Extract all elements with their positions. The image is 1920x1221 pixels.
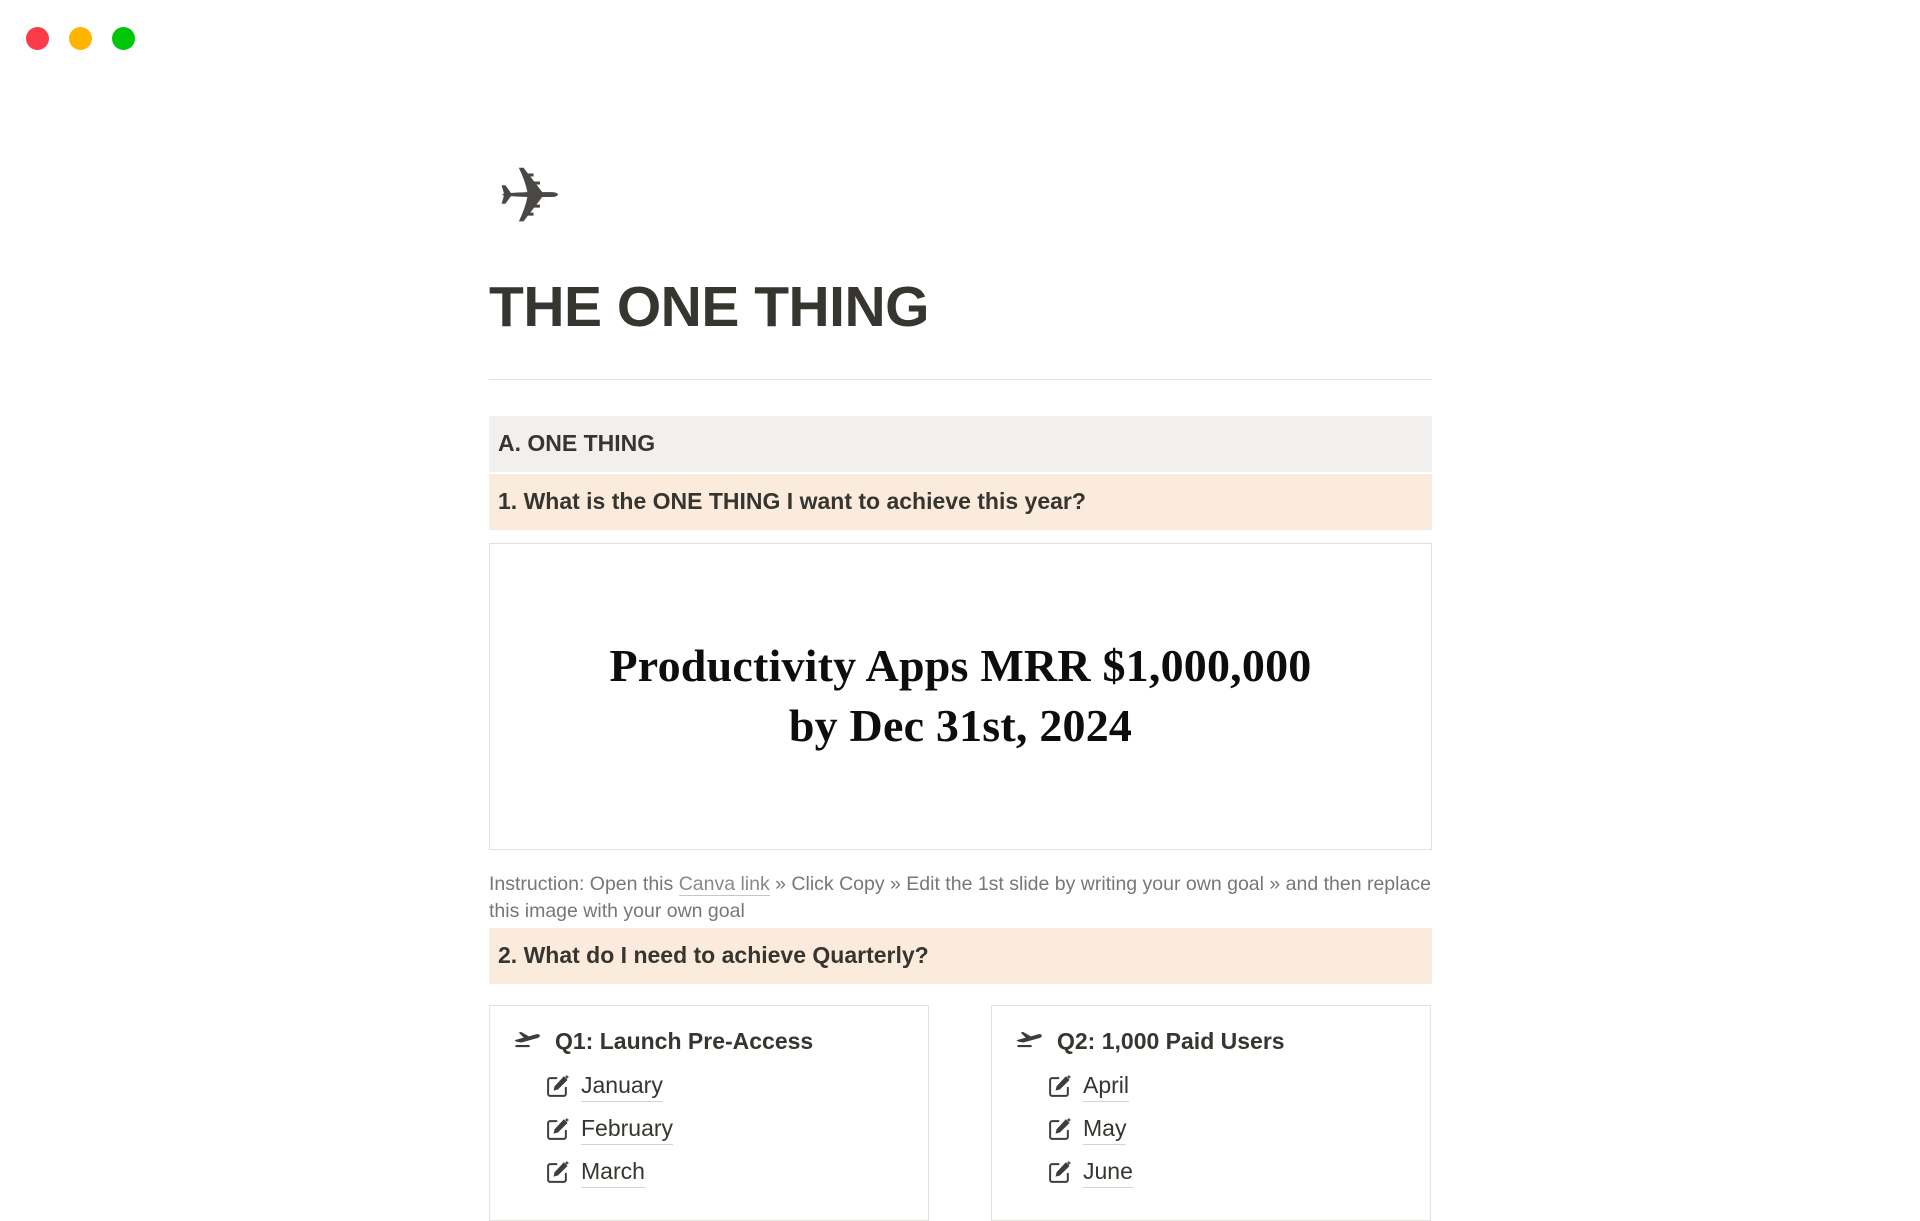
- month-link-march[interactable]: March: [581, 1157, 645, 1188]
- question-2-heading: 2. What do I need to achieve Quarterly?: [489, 928, 1432, 984]
- month-link-february[interactable]: February: [581, 1114, 673, 1145]
- month-link-may[interactable]: May: [1083, 1114, 1126, 1145]
- edit-square-icon: [1047, 1074, 1072, 1099]
- airplane-side-icon: [512, 1029, 542, 1053]
- month-link-row[interactable]: February: [545, 1108, 910, 1151]
- airplane-side-icon: [1014, 1029, 1044, 1053]
- quarter-card-q2-title: Q2: 1,000 Paid Users: [1057, 1028, 1285, 1055]
- quarter-card-q1[interactable]: Q1: Launch Pre-Access January: [489, 1005, 929, 1221]
- edit-square-icon: [1047, 1160, 1072, 1185]
- window-chrome: [0, 0, 1920, 74]
- instruction-prefix: Instruction: Open this: [489, 873, 679, 895]
- canva-link[interactable]: Canva link: [679, 873, 770, 896]
- goal-image-text: Productivity Apps MRR $1,000,000 by Dec …: [610, 636, 1312, 756]
- page-title[interactable]: THE ONE THING: [489, 276, 1432, 340]
- page-content-column: ✈ THE ONE THING A. ONE THING 1. What is …: [489, 74, 1432, 1221]
- month-link-april[interactable]: April: [1083, 1071, 1129, 1102]
- month-link-row[interactable]: March: [545, 1151, 910, 1194]
- traffic-lights: [26, 27, 135, 50]
- goal-line-1: Productivity Apps MRR $1,000,000: [610, 636, 1312, 696]
- month-link-january[interactable]: January: [581, 1071, 663, 1102]
- maximize-window-button[interactable]: [112, 27, 135, 50]
- instruction-caption: Instruction: Open this Canva link » Clic…: [489, 871, 1432, 926]
- month-link-june[interactable]: June: [1083, 1157, 1133, 1188]
- question-1-heading: 1. What is the ONE THING I want to achie…: [489, 474, 1432, 530]
- quarter-card-q1-header: Q1: Launch Pre-Access: [512, 1028, 910, 1055]
- edit-square-icon: [545, 1160, 570, 1185]
- document-page: ✈ THE ONE THING A. ONE THING 1. What is …: [0, 74, 1920, 1200]
- month-link-row[interactable]: May: [1047, 1108, 1412, 1151]
- month-link-row[interactable]: June: [1047, 1151, 1412, 1194]
- goal-line-2: by Dec 31st, 2024: [610, 696, 1312, 756]
- close-window-button[interactable]: [26, 27, 49, 50]
- edit-square-icon: [1047, 1117, 1072, 1142]
- minimize-window-button[interactable]: [69, 27, 92, 50]
- month-link-row[interactable]: January: [545, 1065, 910, 1108]
- quarter-card-q1-title: Q1: Launch Pre-Access: [555, 1028, 813, 1055]
- section-heading-a-one-thing: A. ONE THING: [489, 416, 1432, 472]
- edit-square-icon: [545, 1117, 570, 1142]
- goal-image-block[interactable]: Productivity Apps MRR $1,000,000 by Dec …: [489, 543, 1432, 850]
- edit-square-icon: [545, 1074, 570, 1099]
- title-divider: [489, 379, 1432, 380]
- airplane-icon[interactable]: ✈: [497, 157, 1432, 243]
- quarter-card-q2[interactable]: Q2: 1,000 Paid Users April: [991, 1005, 1431, 1221]
- quarter-card-q2-header: Q2: 1,000 Paid Users: [1014, 1028, 1412, 1055]
- month-link-row[interactable]: April: [1047, 1065, 1412, 1108]
- quarter-cards-row: Q1: Launch Pre-Access January: [489, 1005, 1432, 1221]
